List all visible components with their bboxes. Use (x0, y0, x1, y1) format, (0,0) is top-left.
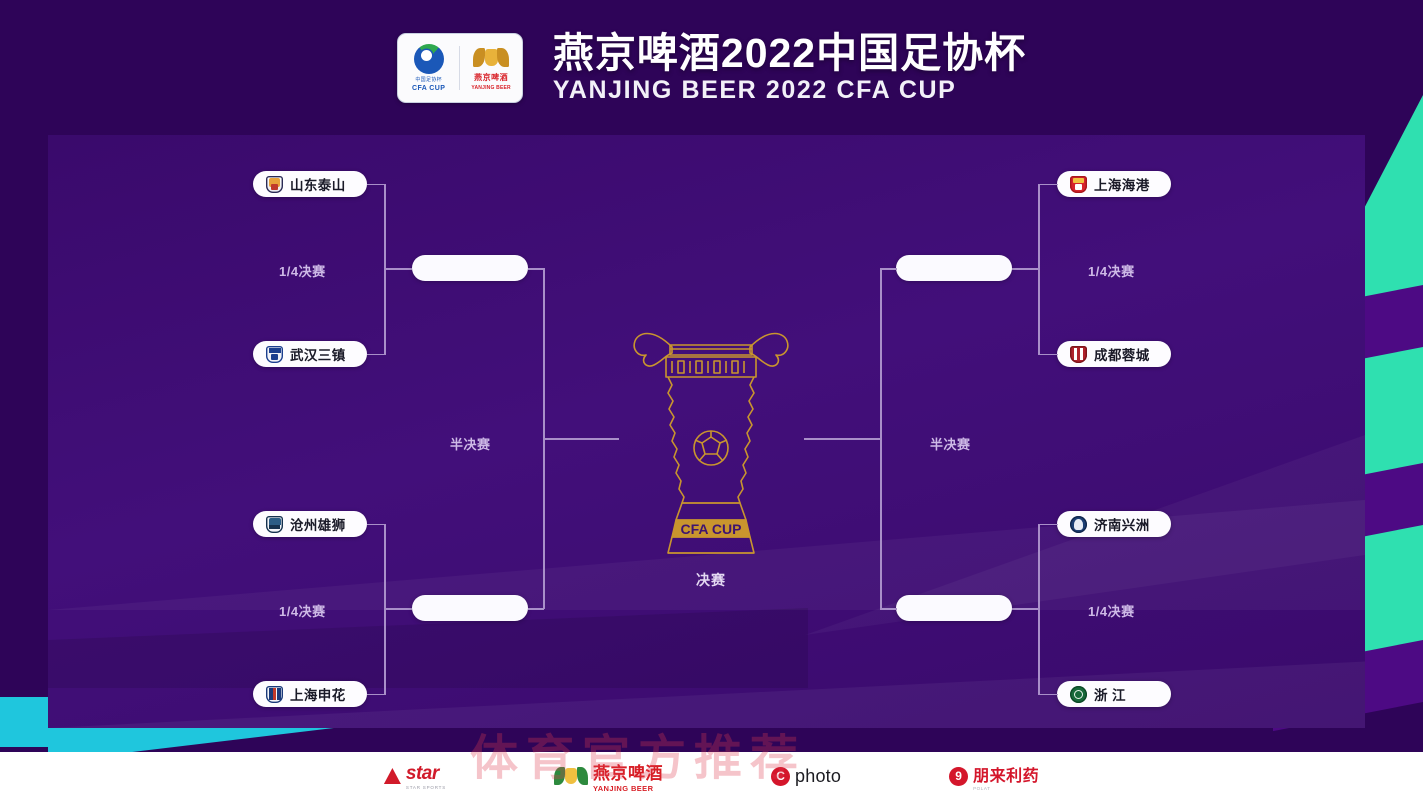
connector-line (1011, 608, 1039, 610)
connector-line (384, 268, 412, 270)
team-pill-shanghai-port[interactable]: 上海海港 (1057, 171, 1171, 197)
sponsor-name: photo (795, 766, 841, 787)
team-name: 上海申花 (290, 684, 346, 704)
connector-line (367, 524, 385, 526)
round-label-left-quarter-top: 1/4决赛 (279, 261, 326, 280)
connector-line (367, 694, 385, 696)
connector-line (367, 354, 385, 356)
semifinal-slot-left-bottom[interactable] (412, 595, 528, 621)
team-pill-chengdu-rongcheng[interactable]: 成都蓉城 (1057, 341, 1171, 367)
connector-line (1038, 694, 1058, 696)
team-pill-shandong-taishan[interactable]: 山东泰山 (253, 171, 367, 197)
connector-line (528, 268, 544, 270)
sponsor-name-en: YANJING BEER (593, 784, 653, 793)
crest-icon-chengdu-rongcheng (1070, 346, 1087, 363)
connector-line (384, 608, 412, 610)
sponsor-subtitle: POLAT (973, 786, 990, 791)
channel-credit: @中国足协杯 (1342, 779, 1415, 794)
semifinal-slot-right-top[interactable] (896, 255, 1012, 281)
team-name: 浙 江 (1094, 684, 1126, 704)
trophy-label: CFA CUP (681, 521, 742, 537)
penglai-logo-icon: 9 (949, 767, 968, 786)
sponsor-subtitle: STAR SPORTS (406, 785, 446, 790)
crest-icon-shanghai-shenhua (266, 686, 283, 703)
connector-line (1038, 524, 1058, 526)
sponsor-yanjing-beer[interactable]: 燕京啤酒 YANJING BEER (554, 759, 663, 793)
credit-text: @中国足协杯 (1355, 779, 1415, 794)
team-pill-zhejiang[interactable]: 浙 江 (1057, 681, 1171, 707)
star-logo-icon (384, 768, 401, 784)
sponsor-icphoto[interactable]: C photo (771, 766, 841, 787)
crest-icon-cangzhou-mighty-lions (266, 516, 283, 533)
round-label-right-quarter-top: 1/4决赛 (1088, 261, 1135, 280)
crest-icon-zhejiang (1070, 686, 1087, 703)
crest-icon-jinan-xingzhou (1070, 516, 1087, 533)
trophy-icon: CFA CUP (632, 315, 790, 560)
final-label: 决赛 (632, 570, 790, 590)
team-name: 上海海港 (1094, 174, 1150, 194)
connector-line (880, 608, 897, 610)
team-pill-jinan-xingzhou[interactable]: 济南兴洲 (1057, 511, 1171, 537)
sponsor-name-cn: 燕京啤酒 (593, 759, 663, 784)
sponsor-name: star (406, 763, 439, 785)
wreath-leaf-right (577, 767, 588, 785)
connector-line (528, 608, 544, 610)
connector-line (367, 184, 385, 186)
semifinal-slot-right-bottom[interactable] (896, 595, 1012, 621)
semifinal-slot-left-top[interactable] (412, 255, 528, 281)
sponsor-star[interactable]: star STAR SPORTS (384, 763, 446, 790)
crest-icon-shandong-taishan (266, 176, 283, 193)
sponsor-penglai-pharma[interactable]: 9 朋来利药 POLAT (949, 762, 1039, 791)
crest-icon-shanghai-port (1070, 176, 1087, 193)
team-pill-shanghai-shenhua[interactable]: 上海申花 (253, 681, 367, 707)
connector-line (543, 438, 619, 440)
tournament-bracket: 山东泰山 武汉三镇 1/4决赛 沧州雄狮 上海申花 1/4决赛 (0, 0, 1423, 800)
connector-line (1038, 184, 1058, 186)
semifinal-label-right: 半决赛 (930, 434, 971, 453)
icphoto-logo-icon: C (771, 767, 790, 786)
team-name: 成都蓉城 (1094, 344, 1150, 364)
semifinal-label-left: 半决赛 (450, 434, 491, 453)
round-label-right-quarter-bottom: 1/4决赛 (1088, 601, 1135, 620)
team-pill-wuhan-three-towns[interactable]: 武汉三镇 (253, 341, 367, 367)
connector-line (1011, 268, 1039, 270)
team-name: 山东泰山 (290, 174, 346, 194)
yanjing-wreath-icon-footer (554, 764, 588, 788)
team-name: 济南兴洲 (1094, 514, 1150, 534)
wreath-shield (565, 768, 577, 784)
crest-icon-wuhan-three-towns (266, 346, 283, 363)
wreath-leaf-left (554, 767, 565, 785)
connector-line (880, 268, 897, 270)
team-name: 沧州雄狮 (290, 514, 346, 534)
team-name: 武汉三镇 (290, 344, 346, 364)
connector-line (1038, 354, 1058, 356)
round-label-left-quarter-bottom: 1/4决赛 (279, 601, 326, 620)
sponsor-footer: star STAR SPORTS 燕京啤酒 YANJING BEER C pho… (0, 752, 1423, 800)
team-pill-cangzhou-mighty-lions[interactable]: 沧州雄狮 (253, 511, 367, 537)
cfa-cup-trophy: CFA CUP 决赛 (632, 315, 790, 560)
connector-line (804, 438, 881, 440)
sponsor-name: 朋来利药 (973, 762, 1039, 786)
credit-logo-icon (1342, 782, 1352, 792)
